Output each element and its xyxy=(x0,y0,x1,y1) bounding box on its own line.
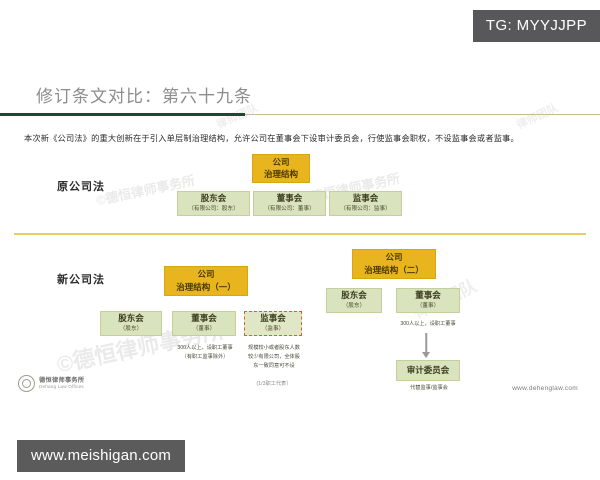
new-law-chart-two-root-box: 公司 治理结构（二） xyxy=(352,249,436,279)
firm-name-en: Dehang Law Offices xyxy=(39,384,84,389)
section-label-new-law: 新公司法 xyxy=(57,271,105,287)
section-label-old-law: 原公司法 xyxy=(57,178,105,194)
old-law-node-supervisors: 监事会 （有限公司：监事） xyxy=(329,191,402,216)
seal-icon xyxy=(18,375,35,392)
site-watermark-badge: www.meishigan.com xyxy=(17,440,185,472)
old-law-root-box: 公司 治理结构 xyxy=(252,154,310,183)
new-law-chart-one-node-board: 董事会 （董事） xyxy=(172,311,236,336)
slide-canvas: ©德恒律师事务所 ©德恒律师事务所 ©德恒律师事务所 律师团队 律师团队 律师团… xyxy=(0,0,600,430)
section-divider xyxy=(14,233,586,235)
note-employee-representative-ratio: (1/3职工代表） xyxy=(242,380,306,389)
new-law-chart-one-node-shareholders: 股东会 （股东） xyxy=(100,311,162,336)
firm-website: www.dehenglaw.com xyxy=(512,385,578,392)
header-divider xyxy=(0,113,600,116)
down-arrow-icon xyxy=(420,333,432,357)
firm-name-cn: 德恒律师事务所 xyxy=(39,377,84,384)
firm-logo: 德恒律师事务所 Dehang Law Offices xyxy=(18,375,84,392)
new-law-chart-one-root-box: 公司 治理结构（一） xyxy=(164,266,248,296)
note-audit-replaces-supervisors: 代替监事/监事会 xyxy=(390,384,468,393)
new-law-chart-two-node-board: 董事会 （董事） xyxy=(396,288,460,313)
note-board-employee-directors: 300人以上，设职工董事 （有职工监事除外） xyxy=(166,344,244,362)
new-law-chart-two-node-shareholders: 股东会 （股东） xyxy=(326,288,382,313)
old-law-node-board: 董事会 （有限公司：董事） xyxy=(253,191,326,216)
watermark-team: 律师团队 xyxy=(514,99,561,132)
note-chart-two-employee-directors: 300人以上，设职工董事 xyxy=(380,320,476,329)
new-law-chart-two-node-audit-committee: 审计委员会 xyxy=(396,360,460,381)
new-law-chart-one-node-supervisors: 监事会 （监事） xyxy=(244,311,302,336)
old-law-node-shareholders: 股东会 （有限公司：股东） xyxy=(177,191,250,216)
intro-paragraph: 本次新《公司法》的重大创新在于引入单层制治理结构，允许公司在董事会下设审计委员会… xyxy=(24,133,580,145)
page-title: 修订条文对比：第六十九条 xyxy=(36,82,252,107)
tg-badge: TG: MYYJJPP xyxy=(473,10,600,42)
note-supervisors-optional: 规模较小或者股东人数 较少有限公司，全体股 东一致同意可不设 xyxy=(242,344,306,371)
